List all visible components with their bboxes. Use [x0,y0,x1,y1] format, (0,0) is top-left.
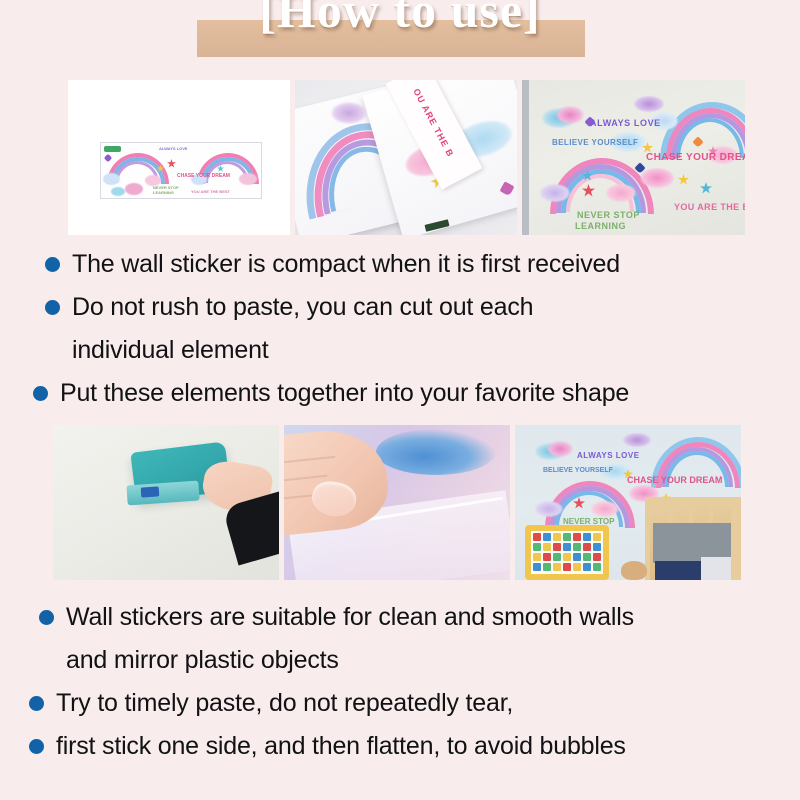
instruction-bullet-line: Wall stickers are suitable for clean and… [0,596,800,639]
photo-cutouts[interactable]: OU ARE THE B [295,80,517,235]
instructions-top: The wall sticker is compact when it is f… [0,243,800,415]
instruction-bullet-line: The wall sticker is compact when it is f… [0,243,800,286]
decal-text-always-love: ALWAYS LOVE [577,451,640,460]
instruction-text: and mirror plastic objects [66,639,800,682]
star-icon [167,159,176,168]
bunk-bed [645,497,741,580]
bullet-dot-icon [39,610,54,625]
heart-icon [500,181,515,196]
instruction-text: individual element [72,329,800,372]
photo-row-bottom: ALWAYS LOVE BELIEVE YOURSELF CHASE YOUR … [53,425,745,580]
bullet-dot-icon [45,300,60,315]
photo-room-scene[interactable]: ALWAYS LOVE BELIEVE YOURSELF CHASE YOUR … [515,425,741,580]
decal-text-learning: LEARNING [575,221,626,231]
sheet-text-always-love: ALWAYS LOVE [159,146,188,151]
instruction-continuation-line: and mirror plastic objects [0,639,800,682]
towel-tag [141,486,160,497]
bullet-dot-icon [29,739,44,754]
toy-shelf [525,525,609,580]
decal-text-believe: BELIEVE YOURSELF [552,138,638,147]
decal-text-never-stop: NEVER STOP [577,210,640,220]
sheet-text-chase: CHASE YOUR DREAM [177,173,230,179]
towel-fold [126,481,199,506]
photo-peel-film[interactable] [284,425,510,580]
instruction-bullet-line: Do not rush to paste, you can cut out ea… [0,286,800,329]
bullet-dot-icon [29,696,44,711]
instruction-text: Try to timely paste, do not repeatedly t… [56,682,800,725]
decal-text-believe: BELIEVE YOURSELF [543,467,613,474]
photo-clean-wall[interactable] [53,425,279,580]
instructions-bottom: Wall stickers are suitable for clean and… [0,596,800,768]
instruction-text: The wall sticker is compact when it is f… [72,243,800,286]
instruction-bullet-line: Try to timely paste, do not repeatedly t… [0,682,800,725]
instruction-text: first stick one side, and then flatten, … [56,725,800,768]
fingernail [309,479,358,520]
instruction-text: Do not rush to paste, you can cut out ea… [72,286,800,329]
decal-text-you-are-best: YOU ARE THE BEST [674,202,745,212]
sheet-tag [104,146,121,152]
wall-edge [522,80,529,235]
sticker-cloud-art [376,429,496,475]
page-title: [How to use] [0,0,800,38]
decal-text-chase: CHASE YOUR DREAM [627,475,722,485]
photo-row-top: ALWAYS LOVE CHASE YOUR DREAM NEVER STOP … [68,80,741,235]
instruction-text: Put these elements together into your fa… [60,372,800,415]
star-icon [217,165,224,172]
star-icon [582,170,593,181]
bullet-dot-icon [33,386,48,401]
decal-text-always-love: ALWAYS LOVE [590,118,661,128]
instruction-continuation-line: individual element [0,329,800,372]
star-icon [700,182,712,194]
instruction-bullet-line: Put these elements together into your fa… [0,372,800,415]
instruction-text: Wall stickers are suitable for clean and… [66,596,800,639]
sheet-text-learning: LEARNING [153,190,174,195]
bullet-dot-icon [45,257,60,272]
star-icon [678,174,689,185]
star-icon [582,184,595,197]
photo-sticker-sheet[interactable]: ALWAYS LOVE CHASE YOUR DREAM NEVER STOP … [68,80,290,235]
photo-wall-applied[interactable]: ALWAYS LOVE BELIEVE YOURSELF CHASE YOUR … [522,80,745,235]
star-icon [157,165,164,172]
sticker-sheet-art: ALWAYS LOVE CHASE YOUR DREAM NEVER STOP … [100,142,262,199]
teddy-bear [621,561,647,580]
toy-shelf-grid [531,531,603,574]
decal-text-chase: CHASE YOUR DREAM [646,152,745,163]
instruction-bullet-line: first stick one side, and then flatten, … [0,725,800,768]
star-icon [573,497,585,509]
sheet-text-you-are-best: YOU ARE THE BEST [191,189,230,194]
